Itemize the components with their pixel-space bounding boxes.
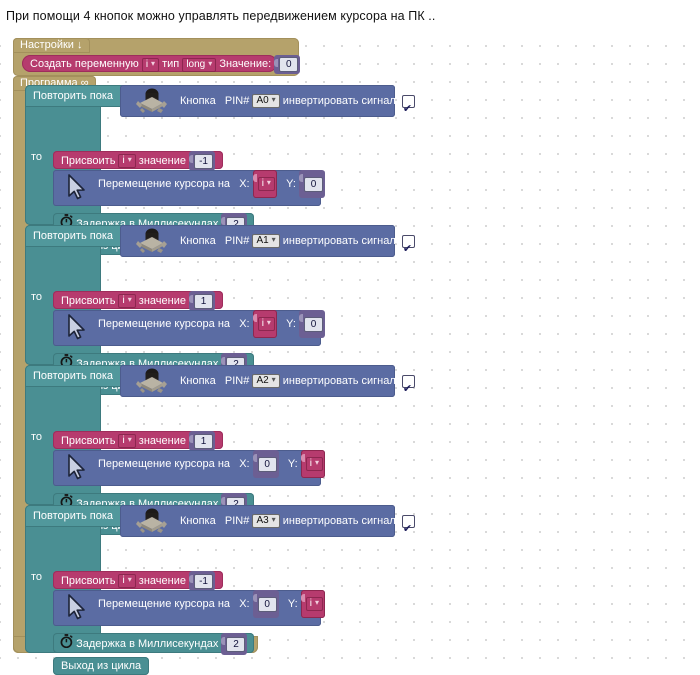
loop-a3-x-value[interactable]: 0 <box>258 597 277 612</box>
loop-a0-y-value[interactable]: 0 <box>304 177 323 192</box>
loop-a3-assign-variable[interactable]: i <box>118 574 135 588</box>
loop-a3-delay-value[interactable]: 2 <box>226 637 245 652</box>
loop-a0-pin-dropdown[interactable]: A0 <box>252 94 279 108</box>
loop-a1-assign-block[interactable]: Присвоить i значение 1 <box>53 291 223 309</box>
mouse-cursor-icon <box>67 454 87 484</box>
loop-a2-assign-value-socket[interactable]: 1 <box>189 431 215 451</box>
loop-a2-x-label: X: <box>239 458 249 470</box>
loop-a0-x-label: X: <box>239 178 249 190</box>
loop-a3-while-label: Повторить пока <box>33 510 113 522</box>
loop-a2-mouse-move-label: Перемещение курсора на <box>98 458 230 470</box>
loop-a0-invert-label: инвертировать сигнал: <box>283 95 399 107</box>
loop-a0-then-label: то <box>31 151 42 163</box>
loop-a0-x-socket[interactable]: i <box>253 170 277 198</box>
loop-a1-button-label: Кнопка <box>180 235 216 247</box>
loop-a0-assign-value-socket[interactable]: -1 <box>189 151 215 171</box>
loop-a1-assign-value-field[interactable]: 1 <box>194 294 213 309</box>
loop-a3-button-label: Кнопка <box>180 515 216 527</box>
loop-a1-pin-dropdown[interactable]: A1 <box>252 234 279 248</box>
loop-a0-assign-block[interactable]: Присвоить i значение -1 <box>53 151 223 169</box>
loop-a2-invert-checkbox[interactable] <box>402 375 415 388</box>
variable-type-label: тип <box>162 58 179 70</box>
loop-a0-assign-value-field[interactable]: -1 <box>194 154 213 169</box>
loop-a3-y-value[interactable]: i <box>306 597 323 611</box>
variable-value-socket[interactable]: 0 <box>274 55 300 74</box>
loop-a0-mouse-move-label: Перемещение курсора на <box>98 178 230 190</box>
loop-a0-y-socket[interactable]: 0 <box>299 170 325 198</box>
variable-name-dropdown[interactable]: i <box>142 58 159 72</box>
loop-a3-assign-value-socket[interactable]: -1 <box>189 571 215 591</box>
loop-a1-y-value[interactable]: 0 <box>304 317 323 332</box>
loop-a1-pin-label: PIN# <box>225 235 249 247</box>
loop-a3-delay-socket[interactable]: 2 <box>221 633 247 655</box>
loop-a2-x-value[interactable]: 0 <box>258 457 277 472</box>
tactile-button-icon <box>130 367 170 395</box>
loop-a0-button-label: Кнопка <box>180 95 216 107</box>
loop-a1-header[interactable]: Повторить пока <box>25 225 133 247</box>
loop-a3-x-socket[interactable]: 0 <box>253 590 279 618</box>
loop-a1-assign-value-socket[interactable]: 1 <box>189 291 215 311</box>
blockly-canvas[interactable]: Настройки ↓ Создать переменную i тип lon… <box>0 31 700 662</box>
loop-a0-x-value[interactable]: i <box>258 177 275 191</box>
loop-a1-invert-checkbox[interactable] <box>402 235 415 248</box>
loop-a0-assign-variable[interactable]: i <box>118 154 135 168</box>
loop-a1-while-label: Повторить пока <box>33 230 113 242</box>
loop-a2-assign-block[interactable]: Присвоить i значение 1 <box>53 431 223 449</box>
loop-a2-assign-value-label: значение <box>139 435 186 447</box>
variable-type-dropdown[interactable]: long <box>182 58 216 72</box>
loop-a3-assign-label: Присвоить <box>61 575 115 587</box>
mouse-cursor-icon <box>67 314 87 344</box>
loop-a2-assign-variable[interactable]: i <box>118 434 135 448</box>
loop-a3-button-condition[interactable]: Кнопка PIN# A3 инвертировать сигнал: <box>120 505 395 537</box>
loop-a2-x-socket[interactable]: 0 <box>253 450 279 478</box>
loop-a3-delay-label: Задержка в Миллисекундах <box>76 638 218 650</box>
loop-a1-mouse-move-label: Перемещение курсора на <box>98 318 230 330</box>
loop-a2-assign-label: Присвоить <box>61 435 115 447</box>
loop-a1-assign-label: Присвоить <box>61 295 115 307</box>
mouse-cursor-icon <box>67 174 87 204</box>
loop-a0-header[interactable]: Повторить пока <box>25 85 133 107</box>
loop-a1-button-condition[interactable]: Кнопка PIN# A1 инвертировать сигнал: <box>120 225 395 257</box>
create-variable-label: Создать переменную <box>30 58 139 70</box>
loop-a1-assign-variable[interactable]: i <box>118 294 135 308</box>
loop-a3-y-socket[interactable]: i <box>301 590 325 618</box>
loop-a1-x-socket[interactable]: i <box>253 310 277 338</box>
loop-a3-then-label: то <box>31 571 42 583</box>
tactile-button-icon <box>130 507 170 535</box>
mouse-cursor-icon <box>67 594 87 624</box>
loop-a3-pin-dropdown[interactable]: A3 <box>252 514 279 528</box>
loop-a1-x-label: X: <box>239 318 249 330</box>
loop-a0-assign-value-label: значение <box>139 155 186 167</box>
loop-a0-invert-checkbox[interactable] <box>402 95 415 108</box>
loop-a3-assign-value-field[interactable]: -1 <box>194 574 213 589</box>
loop-a0-y-label: Y: <box>286 178 296 190</box>
settings-section-label: Настройки ↓ <box>20 39 83 51</box>
tactile-button-icon <box>130 87 170 115</box>
loop-a2-button-label: Кнопка <box>180 375 216 387</box>
loop-a0-mouse-move-block[interactable]: Перемещение курсора на X: i Y: 0 <box>53 170 321 206</box>
loop-a3-mouse-move-label: Перемещение курсора на <box>98 598 230 610</box>
loop-a3-y-label: Y: <box>288 598 298 610</box>
settings-section-tab[interactable]: Настройки ↓ <box>13 38 90 53</box>
loop-a1-y-label: Y: <box>286 318 296 330</box>
loop-a1-invert-label: инвертировать сигнал: <box>283 235 399 247</box>
variable-value-label: Значение: <box>219 58 271 70</box>
loop-a1-mouse-move-block[interactable]: Перемещение курсора на X: i Y: 0 <box>53 310 321 346</box>
loop-a2-pin-label: PIN# <box>225 375 249 387</box>
loop-a3-pin-label: PIN# <box>225 515 249 527</box>
loop-a3-header[interactable]: Повторить пока <box>25 505 133 527</box>
loop-a0-assign-label: Присвоить <box>61 155 115 167</box>
loop-a1-assign-value-label: значение <box>139 295 186 307</box>
page-title: При помощи 4 кнопок можно управлять пере… <box>0 0 700 23</box>
loop-a3-break-block[interactable]: Выход из цикла <box>53 657 149 675</box>
loop-a3-mouse-move-block[interactable]: Перемещение курсора на X: 0 Y: i <box>53 590 321 626</box>
loop-a2-header[interactable]: Повторить пока <box>25 365 133 387</box>
loop-a3-assign-block[interactable]: Присвоить i значение -1 <box>53 571 223 589</box>
loop-a2-pin-dropdown[interactable]: A2 <box>252 374 279 388</box>
loop-a0-while-label: Повторить пока <box>33 90 113 102</box>
stopwatch-icon <box>60 634 73 655</box>
loop-a0-button-condition[interactable]: Кнопка PIN# A0 инвертировать сигнал: <box>120 85 395 117</box>
variable-value-field[interactable]: 0 <box>279 57 298 72</box>
loop-a1-then-label: то <box>31 291 42 303</box>
loop-a1-y-socket[interactable]: 0 <box>299 310 325 338</box>
create-variable-block[interactable]: Создать переменную i тип long Значение: … <box>22 55 277 72</box>
loop-a3-x-label: X: <box>239 598 249 610</box>
loop-a2-y-value[interactable]: i <box>306 457 323 471</box>
loop-a3-assign-value-label: значение <box>139 575 186 587</box>
loop-a2-then-label: то <box>31 431 42 443</box>
loop-a3-delay-block[interactable]: Задержка в Миллисекундах 2 <box>53 633 254 653</box>
loop-a2-y-label: Y: <box>288 458 298 470</box>
loop-a0-pin-label: PIN# <box>225 95 249 107</box>
loop-a2-mouse-move-block[interactable]: Перемещение курсора на X: 0 Y: i <box>53 450 321 486</box>
loop-a1-x-value[interactable]: i <box>258 317 275 331</box>
loop-a2-invert-label: инвертировать сигнал: <box>283 375 399 387</box>
loop-a2-y-socket[interactable]: i <box>301 450 325 478</box>
loop-a3-invert-label: инвертировать сигнал: <box>283 515 399 527</box>
loop-a2-button-condition[interactable]: Кнопка PIN# A2 инвертировать сигнал: <box>120 365 395 397</box>
loop-a3-invert-checkbox[interactable] <box>402 515 415 528</box>
loop-a2-assign-value-field[interactable]: 1 <box>194 434 213 449</box>
tactile-button-icon <box>130 227 170 255</box>
loop-a2-while-label: Повторить пока <box>33 370 113 382</box>
